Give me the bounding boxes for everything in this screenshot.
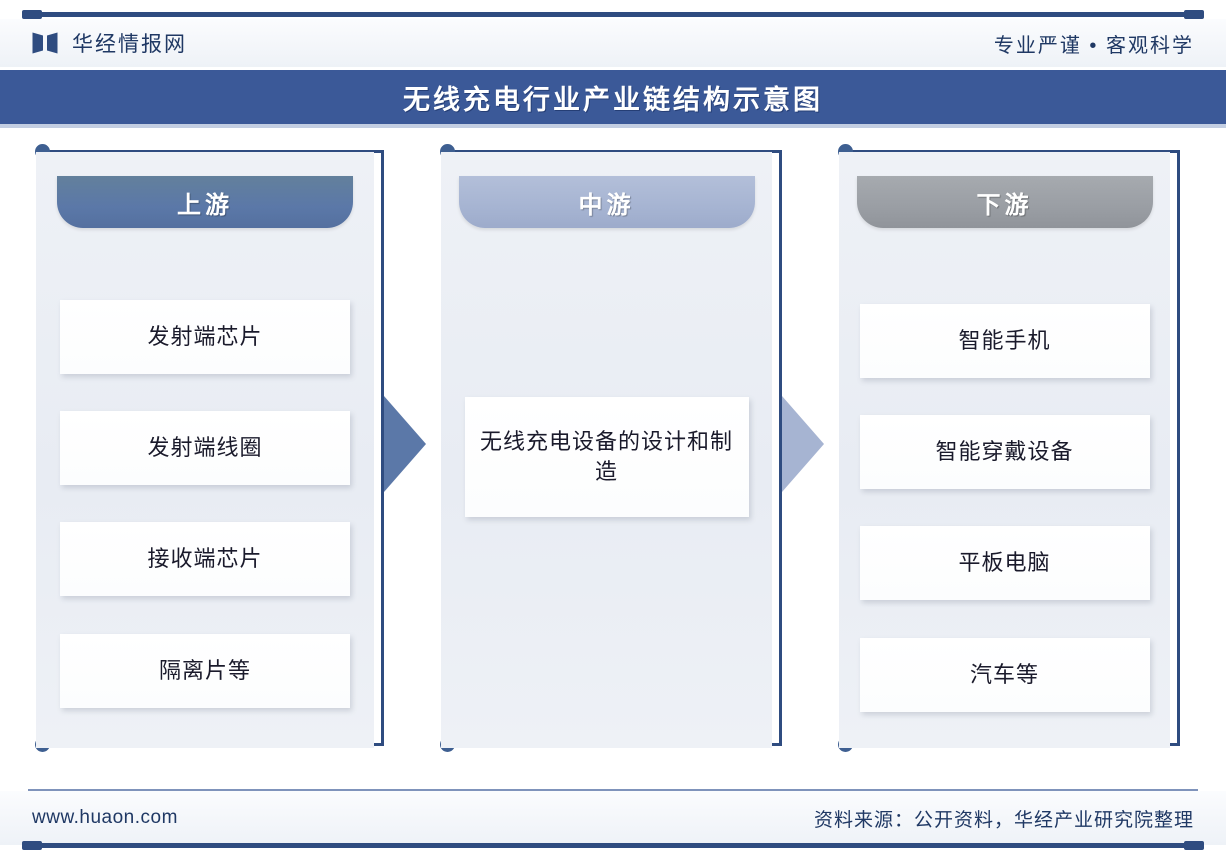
column-header-label: 中游 bbox=[579, 185, 635, 220]
header-tagline: 专业严谨 • 客观科学 bbox=[994, 29, 1194, 58]
column-downstream: 下游 智能手机 智能穿戴设备 平板电脑 汽车等 bbox=[839, 152, 1170, 748]
bottom-rule-divider bbox=[28, 843, 1198, 848]
infographic-page: 华经情报网 专业严谨 • 客观科学 无线充电行业产业链结构示意图 华经产业 华经… bbox=[0, 0, 1226, 854]
page-header: 华经情报网 专业严谨 • 客观科学 bbox=[0, 19, 1226, 67]
diagram-canvas: 华经产业 华经产业 上游 发射端芯片 发射端线圈 接收端芯片 隔离片等 bbox=[0, 128, 1226, 788]
column-upstream: 上游 发射端芯片 发射端线圈 接收端芯片 隔离片等 bbox=[36, 152, 374, 748]
arrow-midstream-to-downstream bbox=[782, 396, 824, 492]
node-label: 无线充电设备的设计和制造 bbox=[465, 427, 749, 486]
node-box[interactable]: 智能穿戴设备 bbox=[860, 415, 1150, 489]
node-label: 隔离片等 bbox=[149, 656, 261, 686]
node-box[interactable]: 发射端芯片 bbox=[60, 300, 350, 374]
page-title: 无线充电行业产业链结构示意图 bbox=[403, 78, 823, 117]
node-label: 发射端线圈 bbox=[137, 433, 272, 463]
column-header-midstream: 中游 bbox=[459, 176, 755, 228]
node-box[interactable]: 隔离片等 bbox=[60, 634, 350, 708]
arrow-upstream-to-midstream bbox=[384, 396, 426, 492]
column-header-downstream: 下游 bbox=[857, 176, 1153, 228]
node-label: 发射端芯片 bbox=[137, 322, 272, 352]
node-label: 智能手机 bbox=[948, 326, 1060, 356]
page-footer: www.huaon.com 资料来源：公开资料，华经产业研究院整理 bbox=[0, 791, 1226, 845]
node-box[interactable]: 汽车等 bbox=[860, 638, 1150, 712]
huajing-book-mark-icon bbox=[32, 31, 58, 55]
node-box[interactable]: 接收端芯片 bbox=[60, 522, 350, 596]
node-label: 汽车等 bbox=[960, 660, 1049, 690]
brand: 华经情报网 bbox=[32, 28, 187, 58]
footer-source: 资料来源：公开资料，华经产业研究院整理 bbox=[814, 805, 1194, 832]
node-label: 智能穿戴设备 bbox=[925, 437, 1083, 467]
node-box[interactable]: 平板电脑 bbox=[860, 526, 1150, 600]
title-banner: 无线充电行业产业链结构示意图 bbox=[0, 70, 1226, 124]
column-header-label: 下游 bbox=[977, 185, 1033, 220]
node-label: 接收端芯片 bbox=[137, 544, 272, 574]
node-box[interactable]: 无线充电设备的设计和制造 bbox=[465, 397, 749, 517]
top-rule-divider bbox=[28, 12, 1198, 17]
node-label: 平板电脑 bbox=[948, 548, 1060, 578]
footer-website[interactable]: www.huaon.com bbox=[32, 807, 178, 829]
column-header-upstream: 上游 bbox=[57, 176, 353, 228]
node-box[interactable]: 发射端线圈 bbox=[60, 411, 350, 485]
column-midstream: 中游 无线充电设备的设计和制造 bbox=[441, 152, 772, 748]
brand-name: 华经情报网 bbox=[72, 28, 187, 58]
column-header-label: 上游 bbox=[177, 185, 233, 220]
node-box[interactable]: 智能手机 bbox=[860, 304, 1150, 378]
